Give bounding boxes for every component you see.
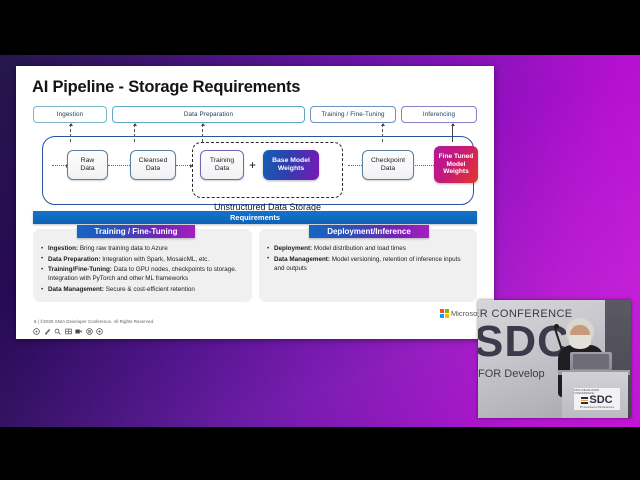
phase-label: Inferencing bbox=[423, 111, 455, 118]
podium-logo-plate: SNIA DEVELOPER CONFERENCE SDC BY Develop… bbox=[574, 388, 620, 410]
microsoft-wordmark: Microsoft bbox=[451, 309, 481, 318]
requirement-term: Data Management: bbox=[48, 286, 104, 293]
video-player-stage: AI Pipeline - Storage Requirements Inges… bbox=[0, 0, 640, 480]
arrow-cleansed-to-training bbox=[176, 165, 190, 166]
requirement-text: Secure & cost-efficient retention bbox=[104, 286, 195, 293]
node-checkpoint-data[interactable]: Checkpoint Data bbox=[362, 150, 414, 180]
node-line-2: Model bbox=[446, 161, 465, 168]
microphone-head-icon bbox=[554, 324, 559, 329]
node-cleansed-data[interactable]: Cleansed Data bbox=[130, 150, 176, 180]
requirement-term: Ingestion: bbox=[48, 245, 78, 252]
requirements-list: Ingestion: Bring raw training data to Az… bbox=[40, 244, 247, 296]
node-line-1: Cleansed bbox=[139, 157, 168, 165]
sdc-bars-icon bbox=[581, 397, 588, 404]
requirement-item: Training/Fine-Tuning: Data to GPU nodes,… bbox=[40, 265, 247, 283]
node-raw-data[interactable]: Raw Data bbox=[67, 150, 108, 180]
pip-banner-subtext: FOR Develop bbox=[478, 368, 545, 380]
microsoft-squares-icon bbox=[440, 309, 449, 318]
requirements-panel-training: Training / Fine-Tuning Ingestion: Bring … bbox=[33, 229, 252, 302]
requirement-term: Training/Fine-Tuning: bbox=[48, 266, 112, 273]
node-base-model-weights[interactable]: Base Model Weights bbox=[263, 150, 319, 180]
requirements-list: Deployment: Model distribution and load … bbox=[266, 244, 472, 274]
grid-icon[interactable] bbox=[65, 328, 72, 335]
phase-chip-ingestion[interactable]: Ingestion bbox=[33, 106, 107, 123]
node-line-2: Data bbox=[381, 165, 395, 173]
phase-chip-inferencing[interactable]: Inferencing bbox=[401, 106, 477, 123]
node-fine-tuned-model-weights[interactable]: Fine Tuned Model Weights bbox=[434, 146, 478, 183]
laptop-screen bbox=[573, 354, 609, 369]
viewer-toolbar[interactable] bbox=[33, 328, 103, 335]
arrow-checkpoint-to-finetuned bbox=[415, 165, 434, 166]
pen-icon[interactable] bbox=[44, 328, 51, 335]
magnifier-icon[interactable] bbox=[54, 328, 61, 335]
node-line-2: Data bbox=[80, 165, 94, 173]
phase-label: Data Preparation bbox=[184, 111, 233, 118]
requirement-item: Deployment: Model distribution and load … bbox=[266, 244, 472, 253]
phase-chip-data-preparation[interactable]: Data Preparation bbox=[112, 106, 305, 123]
cursor-icon[interactable] bbox=[33, 328, 40, 335]
podium-logo-sdc-text: SDC bbox=[589, 395, 612, 406]
podium-logo-main: SDC bbox=[581, 395, 612, 406]
phase-label: Ingestion bbox=[57, 111, 83, 118]
node-line-2: Data bbox=[146, 165, 160, 173]
requirement-text: Integration with Spark, MosaicML, etc. bbox=[101, 256, 210, 263]
microsoft-logo: Microsoft bbox=[440, 309, 481, 318]
requirements-panel-deployment: Deployment/Inference Deployment: Model d… bbox=[259, 229, 477, 302]
arrow-into-raw-data bbox=[52, 165, 66, 166]
phase-chip-training-fine-tuning[interactable]: Training / Fine-Tuning bbox=[310, 106, 396, 123]
requirement-text: Model distribution and load times bbox=[312, 245, 406, 252]
requirement-item: Data Management: Secure & cost-efficient… bbox=[40, 285, 247, 294]
node-line-1: Raw bbox=[81, 157, 95, 165]
node-line-3: Weights bbox=[443, 168, 469, 175]
podium-logo-bottom-text: BY Developers FOR Developers bbox=[580, 406, 614, 409]
requirement-text: Bring raw training data to Azure bbox=[78, 245, 168, 252]
node-line-1: Training bbox=[210, 157, 234, 165]
speaker-beard bbox=[569, 335, 591, 349]
slide-footer: 6 | ©2025 SNIA Developer Conference. All… bbox=[34, 319, 154, 324]
requirement-term: Data Management: bbox=[274, 256, 330, 263]
page-title: AI Pipeline - Storage Requirements bbox=[32, 78, 300, 97]
node-line-1: Checkpoint bbox=[371, 157, 405, 165]
microphone-icon bbox=[554, 328, 564, 353]
node-line-2: Weights bbox=[278, 165, 304, 173]
requirements-banner: Requirements bbox=[33, 211, 477, 224]
pipeline-phase-row: Ingestion Data Preparation Training / Fi… bbox=[33, 106, 477, 123]
slide: AI Pipeline - Storage Requirements Inges… bbox=[16, 66, 494, 339]
requirements-panel-heading: Deployment/Inference bbox=[309, 225, 429, 238]
requirement-term: Deployment: bbox=[274, 245, 312, 252]
requirement-term: Data Preparation: bbox=[48, 256, 101, 263]
arrow-raw-to-cleansed bbox=[108, 165, 130, 166]
presentation-icon[interactable] bbox=[75, 328, 82, 335]
requirements-panel-heading: Training / Fine-Tuning bbox=[77, 225, 195, 238]
node-training-data[interactable]: Training Data bbox=[200, 150, 244, 180]
arrow-into-checkpoint bbox=[348, 165, 362, 166]
phase-label: Training / Fine-Tuning bbox=[321, 111, 384, 118]
requirement-item: Data Preparation: Integration with Spark… bbox=[40, 255, 247, 264]
menu-icon[interactable] bbox=[86, 328, 93, 335]
node-line-1: Base Model bbox=[272, 157, 310, 165]
plus-symbol: + bbox=[249, 158, 256, 172]
requirement-item: Ingestion: Bring raw training data to Az… bbox=[40, 244, 247, 253]
node-line-1: Fine Tuned bbox=[439, 153, 474, 160]
node-line-2: Data bbox=[215, 165, 229, 173]
more-icon[interactable] bbox=[96, 328, 103, 335]
speaker-video-pip[interactable]: ER CONFERENCE SDC FOR Develop SNIA DEVEL… bbox=[478, 300, 631, 418]
requirement-item: Data Management: Model versioning, reten… bbox=[266, 255, 472, 273]
